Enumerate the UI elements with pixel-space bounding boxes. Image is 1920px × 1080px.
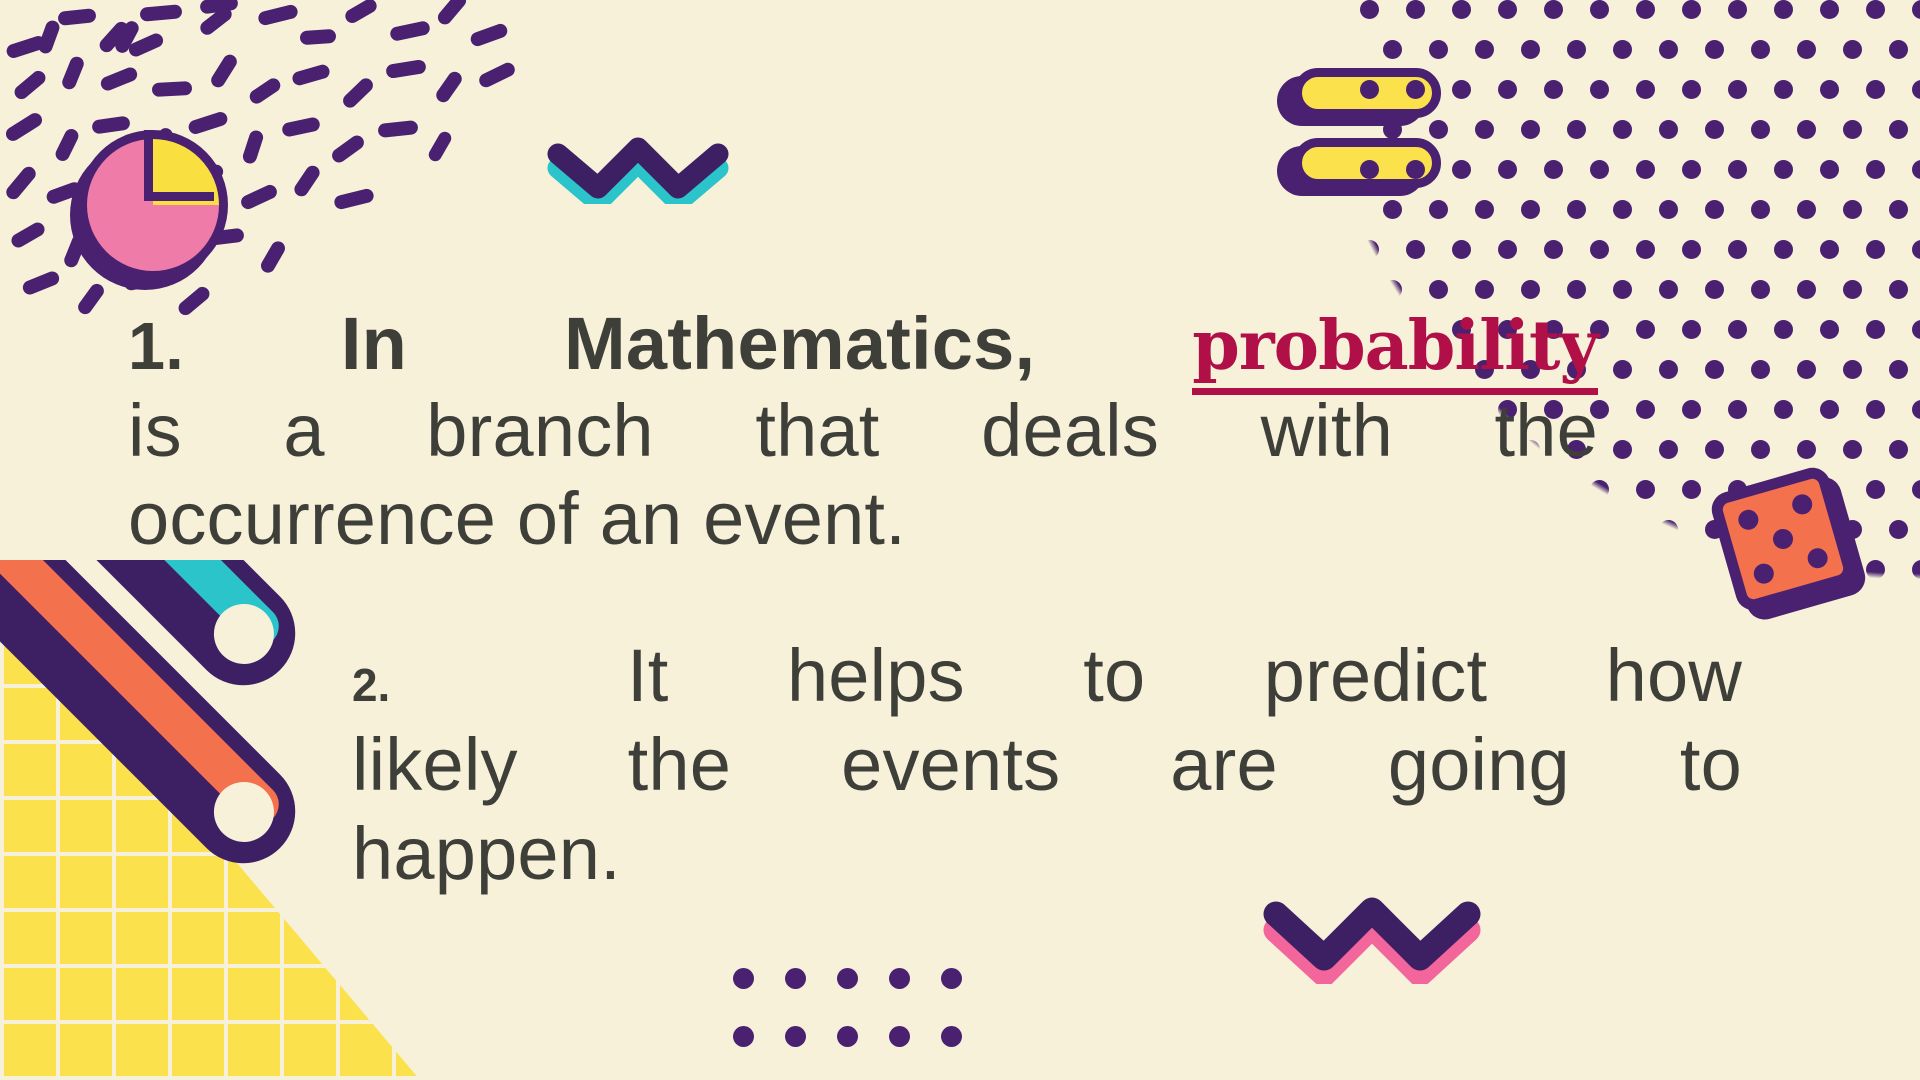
list-item-2-number: 2.: [352, 659, 390, 711]
list-item-1-lead: In Mathematics: [341, 302, 1015, 385]
list-item-1-line-1: 1. In Mathematics, probability: [128, 300, 1598, 387]
list-item-1-line-2: is a branch that deals with the: [128, 387, 1598, 474]
list-item-1-number: 1.: [128, 310, 184, 384]
list-item-2-line-3: happen.: [352, 810, 1742, 899]
list-item-1: 1. In Mathematics, probability is a bran…: [128, 300, 1598, 562]
list-item-1-comma: ,: [1014, 302, 1035, 385]
list-item-2-line-2: likely the events are going to: [352, 721, 1742, 810]
slide-content: 1. In Mathematics, probability is a bran…: [0, 0, 1920, 1080]
list-item-2-line-1: 2. It helps to predict how: [352, 632, 1742, 721]
list-item-1-line-3: occurrence of an event.: [128, 475, 1598, 562]
slide-canvas: 1. In Mathematics, probability is a bran…: [0, 0, 1920, 1080]
highlight-probability: probability: [1192, 306, 1598, 395]
list-item-2: 2. It helps to predict how likely the ev…: [352, 632, 1742, 898]
list-item-2-line-1-text: It helps to predict how: [627, 634, 1742, 717]
